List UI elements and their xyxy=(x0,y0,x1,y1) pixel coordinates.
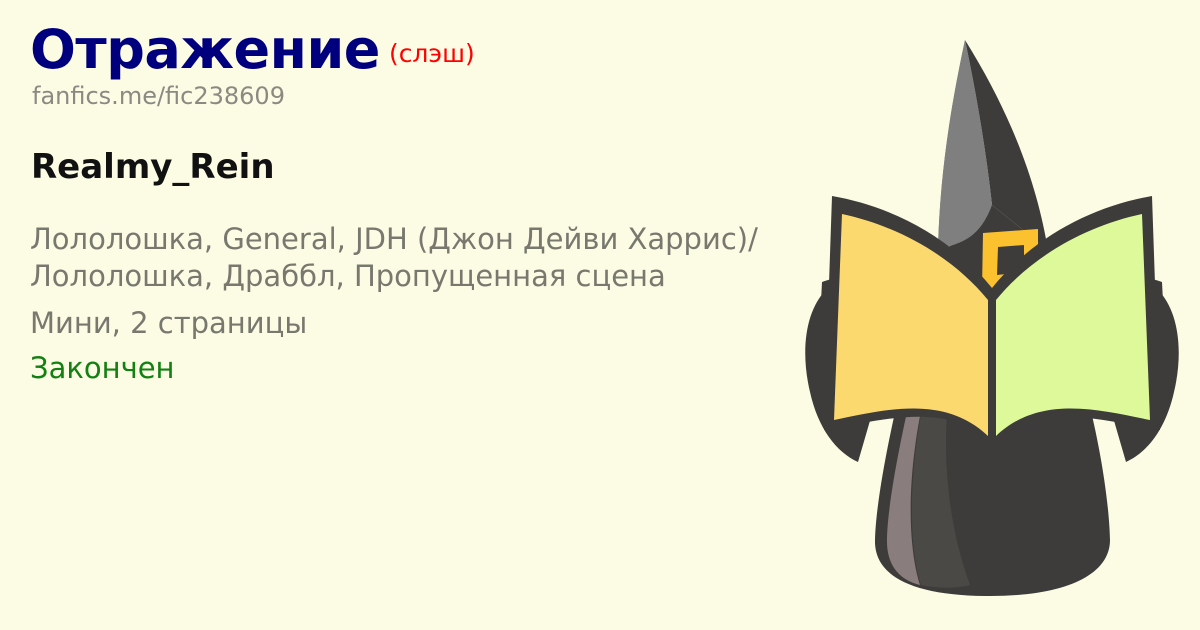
story-tags: Лололошка, General, JDH (Джон Дейви Харр… xyxy=(30,221,810,295)
story-info-block: Отражение(слэш) fanfics.me/fic238609 Rea… xyxy=(30,22,820,387)
author-name[interactable]: Realmy_Rein xyxy=(31,149,820,186)
story-size: Мини, 2 страницы xyxy=(30,305,820,342)
title-row: Отражение(слэш) xyxy=(30,22,820,77)
page-title: Отражение xyxy=(30,18,380,81)
story-meta-block: Лололошка, General, JDH (Джон Дейви Харр… xyxy=(30,221,820,387)
status-badge: Закончен xyxy=(30,350,820,387)
wizard-illustration-svg xyxy=(780,0,1200,630)
story-url[interactable]: fanfics.me/fic238609 xyxy=(32,83,820,109)
book-spine xyxy=(989,296,995,442)
wizard-reading-book-icon xyxy=(780,0,1200,630)
fanfic-preview-card: Отражение(слэш) fanfics.me/fic238609 Rea… xyxy=(0,0,1200,630)
rating-tag: (слэш) xyxy=(380,39,475,68)
